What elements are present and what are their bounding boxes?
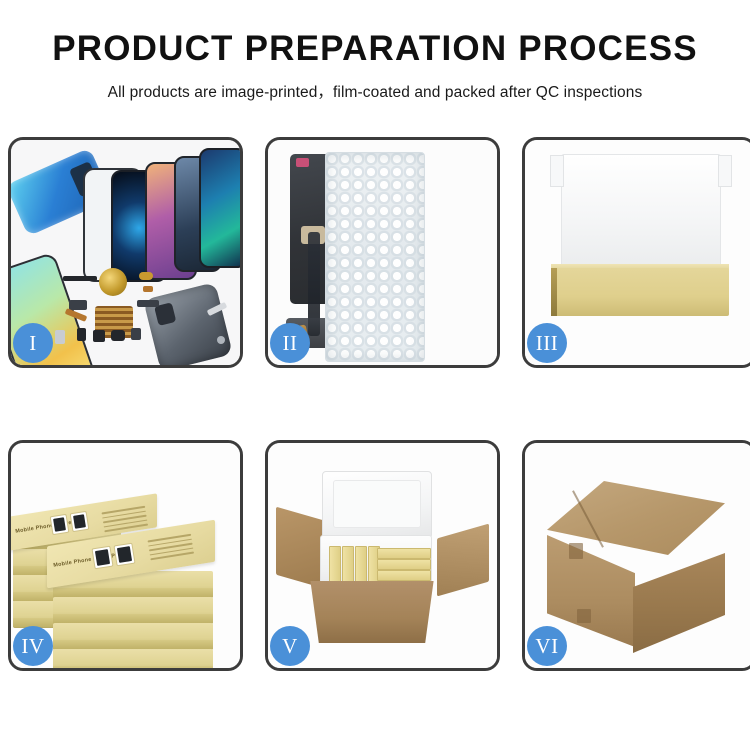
step-badge-3: III <box>527 323 567 363</box>
step-badge-2: II <box>270 323 310 363</box>
small-part-12 <box>217 336 225 344</box>
lid-tab-right <box>718 155 732 187</box>
yellow-box-5 <box>377 548 431 559</box>
foam-box-lid <box>322 471 432 539</box>
process-step-panel-6[interactable]: VI <box>522 440 750 671</box>
stacked-box-7 <box>53 623 213 649</box>
carton-flap-right <box>437 524 489 597</box>
box-art-screen-2 <box>70 511 90 532</box>
kraft-tray-box <box>551 268 729 316</box>
yellow-box-3 <box>355 546 367 582</box>
process-step-panel-2[interactable]: II <box>265 137 500 368</box>
bubble-wrap-bag <box>325 152 425 362</box>
small-part-11 <box>55 330 65 344</box>
speaker-coin-part <box>99 268 127 296</box>
carton-tab-upper <box>569 543 583 559</box>
process-step-panel-4[interactable]: Mobile Phone Spare Parts Mobile Phone Sp… <box>8 440 243 671</box>
carton-body <box>302 581 442 643</box>
process-step-panel-5[interactable]: V <box>265 440 500 671</box>
stacked-box-8 <box>53 649 213 668</box>
box-art-screen-3 <box>91 546 113 570</box>
yellow-box-2 <box>342 546 354 582</box>
small-part-9 <box>111 330 125 341</box>
yellow-box-7 <box>377 570 431 581</box>
yellow-box-6 <box>377 559 431 570</box>
lid-tab-left <box>550 155 564 187</box>
small-part-3 <box>143 286 153 292</box>
small-part-10 <box>131 328 141 340</box>
box-art-screen-4 <box>113 543 135 567</box>
process-steps-grid: I II III <box>8 137 742 671</box>
page-header: PRODUCT PREPARATION PROCESS All products… <box>0 0 750 102</box>
small-part-7 <box>77 328 86 341</box>
small-part-2 <box>139 272 153 280</box>
small-part-6 <box>137 300 159 307</box>
small-part-4 <box>69 300 87 310</box>
step-badge-6: VI <box>527 626 567 666</box>
small-part-8 <box>93 330 105 342</box>
step-badge-1: I <box>13 323 53 363</box>
page-title: PRODUCT PREPARATION PROCESS <box>0 30 750 69</box>
stacked-box-6 <box>53 597 213 623</box>
phone-back-housing <box>143 282 233 365</box>
yellow-box-1 <box>329 546 341 582</box>
page-subtitle: All products are image-printed，film-coat… <box>0 80 750 102</box>
process-step-panel-1[interactable]: I <box>8 137 243 368</box>
step-badge-4: IV <box>13 626 53 666</box>
process-step-panel-3[interactable]: III <box>522 137 750 368</box>
white-box-lid <box>561 154 721 278</box>
carton-side-face <box>633 553 725 653</box>
small-part-1 <box>63 276 97 281</box>
box-art-screen-1 <box>50 514 70 535</box>
phone-screen-teal <box>199 148 240 268</box>
step-badge-5: V <box>270 626 310 666</box>
carton-tab-lower <box>577 609 591 623</box>
pink-label-mark <box>296 158 309 167</box>
